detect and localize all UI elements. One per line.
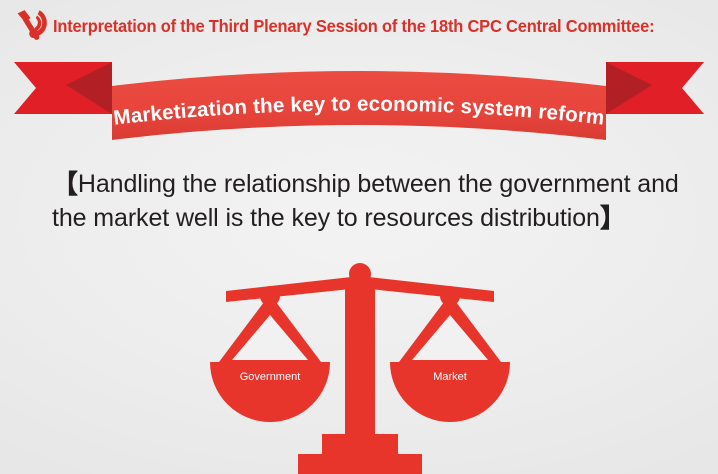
pan-label-government: Government [240, 371, 301, 383]
open-bracket: 【 [52, 170, 78, 200]
ribbon-tail-left [14, 62, 112, 114]
subtitle-line-2: the market well is the key to resources … [52, 204, 600, 232]
scale-pan-left: Government [210, 286, 330, 422]
hammer-sickle-icon [8, 6, 52, 46]
close-bracket: 】 [600, 204, 626, 234]
pan-label-market: Market [433, 371, 467, 383]
scale-pan-right: Market [390, 286, 510, 422]
page-title: Interpretation of the Third Plenary Sess… [53, 16, 654, 37]
infographic-page: Interpretation of the Third Plenary Sess… [0, 0, 718, 474]
header: Interpretation of the Third Plenary Sess… [0, 0, 718, 52]
ribbon-banner: Marketization the key to economic system… [0, 52, 718, 148]
subtitle-line-1: Handling the relationship between the go… [78, 170, 679, 198]
scale-pillar [345, 282, 375, 437]
scale-base [298, 434, 422, 474]
subtitle-block: 【Handling the relationship between the g… [52, 168, 682, 236]
ribbon-tail-right [606, 62, 704, 114]
balance-scale-illustration: Government Market [200, 258, 520, 474]
